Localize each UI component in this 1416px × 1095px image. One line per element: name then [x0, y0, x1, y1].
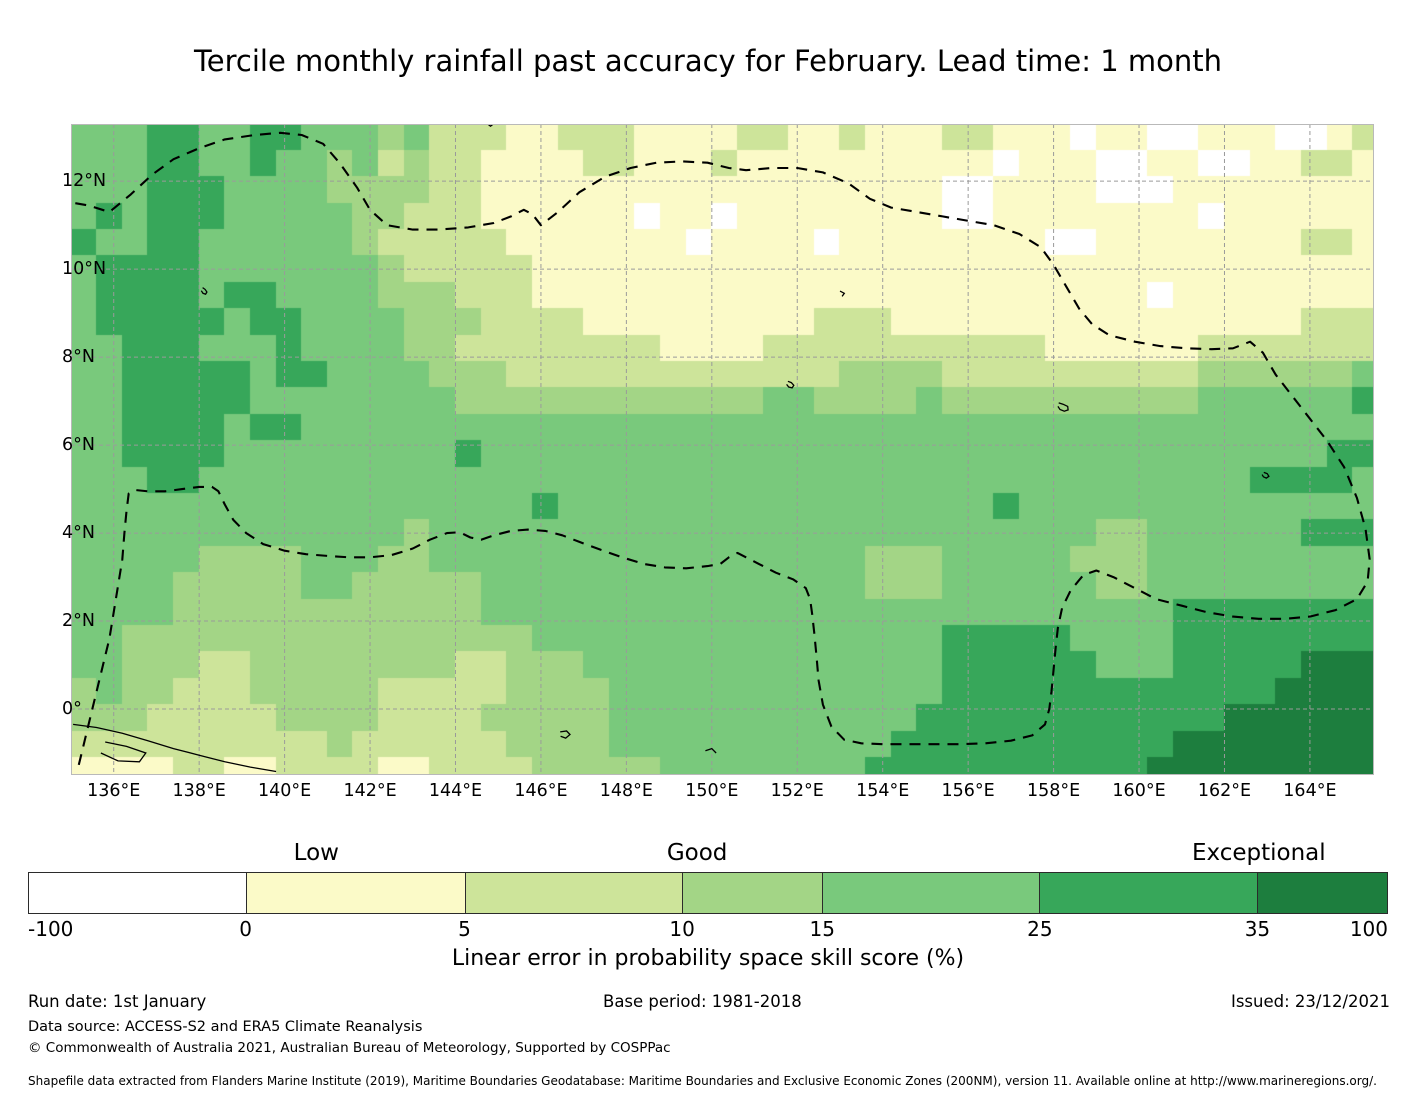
y-tick-label: 2°N — [62, 611, 95, 631]
x-tick-label: 162°E — [1198, 781, 1251, 801]
x-tick-label: 142°E — [343, 781, 396, 801]
x-tick-label: 136°E — [87, 781, 140, 801]
x-tick-label: 158°E — [1027, 781, 1080, 801]
map-plot-area — [71, 124, 1374, 775]
colorbar-band — [246, 873, 465, 913]
colorbar-category-label: Low — [294, 840, 339, 866]
coastline-biak — [101, 742, 146, 762]
colorbar-tick-label: 10 — [669, 917, 694, 941]
y-tick-label: 6°N — [62, 435, 95, 455]
copyright-text: © Commonwealth of Australia 2021, Austra… — [28, 1040, 671, 1056]
coastline-nauru — [560, 731, 570, 738]
x-tick-label: 152°E — [771, 781, 824, 801]
y-tick-label: 10°N — [62, 259, 106, 279]
x-tick-label: 164°E — [1283, 781, 1336, 801]
colorbar-band — [1257, 873, 1387, 913]
x-tick-label: 144°E — [429, 781, 482, 801]
eez-boundary-line — [75, 133, 1369, 771]
colorbar-bands — [28, 872, 1388, 914]
colorbar-band — [822, 873, 1039, 913]
x-tick-label: 156°E — [942, 781, 995, 801]
colorbar-band — [29, 873, 246, 913]
colorbar-axis-label: Linear error in probability space skill … — [0, 946, 1416, 971]
colorbar-tick-label: 25 — [1027, 917, 1052, 941]
data-source-text: Data source: ACCESS-S2 and ERA5 Climate … — [28, 1019, 422, 1035]
colorbar-tick-label: 0 — [239, 917, 252, 941]
y-tick-label: 4°N — [62, 523, 95, 543]
x-tick-label: 146°E — [514, 781, 567, 801]
x-tick-label: 154°E — [856, 781, 909, 801]
colorbar-tick-label: 35 — [1245, 917, 1270, 941]
colorbar-band — [465, 873, 682, 913]
coastline-guam — [482, 124, 493, 126]
colorbar-tick-label: -100 — [28, 917, 73, 941]
colorbar-tick-label: 100 — [1350, 917, 1388, 941]
colorbar-category-label: Exceptional — [1192, 840, 1326, 866]
run-date-text: Run date: 1st January — [28, 992, 206, 1011]
map-gridlines — [71, 124, 1374, 775]
x-tick-label: 148°E — [600, 781, 653, 801]
x-tick-label: 138°E — [173, 781, 226, 801]
x-tick-label: 150°E — [685, 781, 738, 801]
page-title: Tercile monthly rainfall past accuracy f… — [0, 44, 1416, 78]
colorbar-tick-label: 5 — [458, 917, 471, 941]
colorbar-category-label: Good — [667, 840, 728, 866]
coastline-chuuk — [787, 381, 794, 388]
map-vector-overlay — [71, 124, 1374, 775]
colorbar-band — [682, 873, 822, 913]
base-period-text: Base period: 1981-2018 — [603, 992, 802, 1011]
coastline-yap — [201, 288, 207, 295]
shapefile-credit-text: Shapefile data extracted from Flanders M… — [28, 1074, 1377, 1088]
colorbar-band — [1039, 873, 1256, 913]
y-tick-label: 12°N — [62, 171, 106, 191]
coastline-pohnpei — [1058, 403, 1068, 411]
issued-date-text: Issued: 23/12/2021 — [1231, 992, 1390, 1011]
x-tick-label: 160°E — [1112, 781, 1165, 801]
colorbar — [28, 872, 1388, 914]
coastline-new-guinea-north — [73, 724, 276, 771]
coastline-small-atoll-a — [705, 749, 716, 753]
y-tick-label: 8°N — [62, 347, 95, 367]
coastline-small-atoll-b — [840, 291, 844, 296]
coastline-kosrae — [1262, 472, 1269, 478]
x-tick-label: 140°E — [258, 781, 311, 801]
y-tick-label: 0° — [62, 699, 82, 719]
colorbar-tick-label: 15 — [810, 917, 835, 941]
coastline-paths — [71, 124, 1269, 772]
